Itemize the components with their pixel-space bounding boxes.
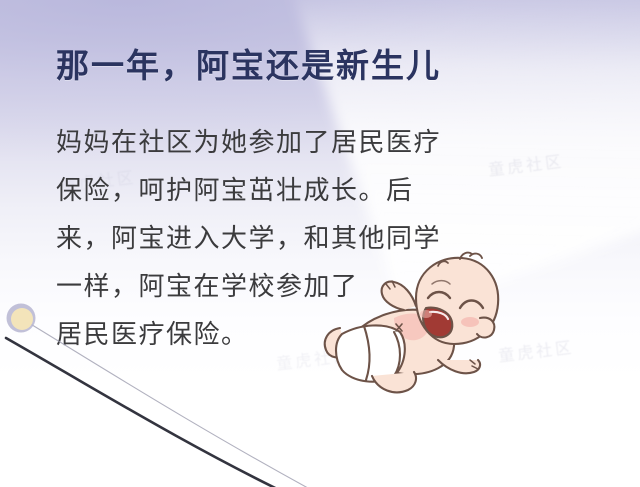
cartoon-baby-illustration (320, 250, 510, 400)
page-title: 那一年，阿宝还是新生儿 (56, 47, 441, 87)
baby-cheek-blush (420, 310, 432, 318)
poster-canvas: 童虎社区 童虎社区 童虎社区 童虎社区 那一年，阿宝还是新生儿 妈妈在社区为她参… (0, 0, 640, 487)
body-line: 妈妈在社区为她参加了居民医疗 (56, 118, 486, 166)
body-line: 保险，呵护阿宝茁壮成长。后 (56, 166, 486, 214)
baby-hair-tuft (470, 254, 482, 258)
baby-cheek-blush (461, 317, 479, 327)
baby-ear (477, 318, 494, 338)
